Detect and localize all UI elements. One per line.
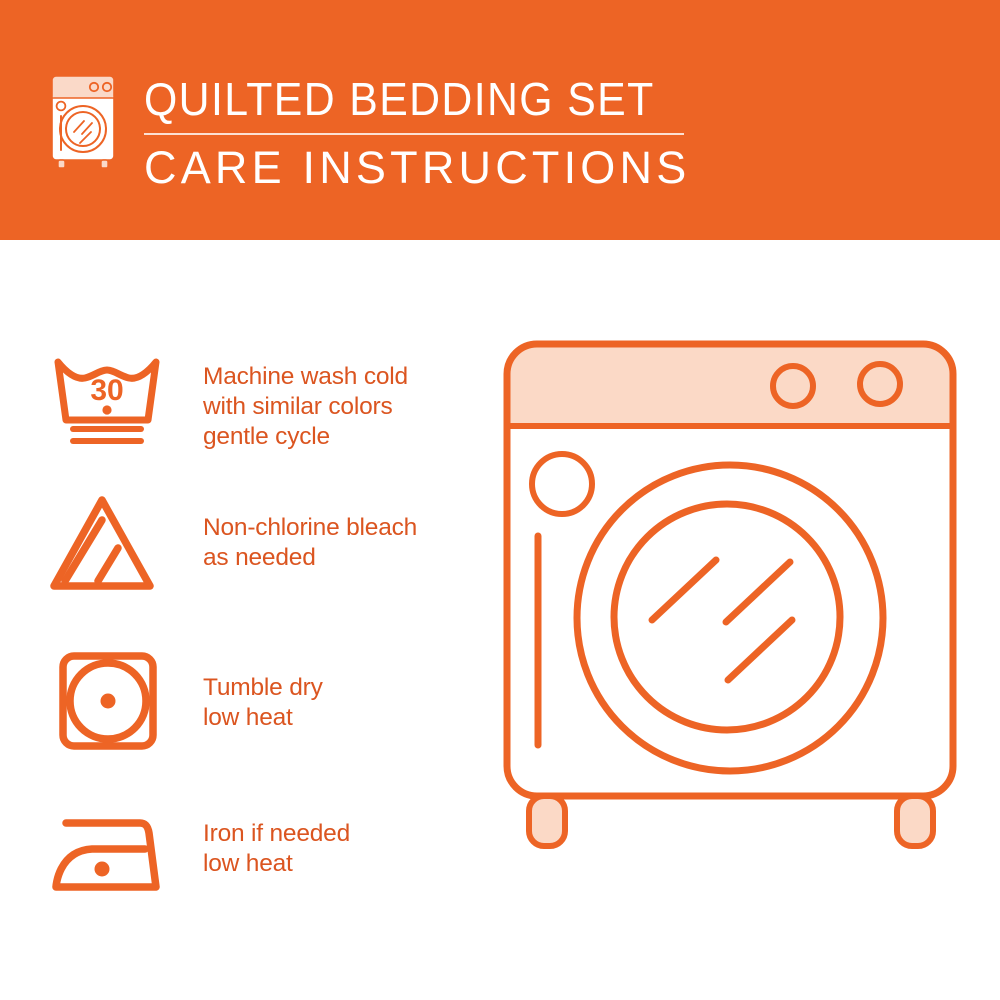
care-line: low heat <box>203 703 475 733</box>
care-row-machine-wash: 30 Machine wash cold with similar colors… <box>0 348 480 468</box>
page-subtitle: CARE INSTRUCTIONS <box>144 143 704 193</box>
care-text-tumble-dry: Tumble dry low heat <box>203 673 475 733</box>
care-line: as needed <box>203 543 475 573</box>
header-banner: QUILTED BEDDING SET CARE INSTRUCTIONS <box>0 0 1000 240</box>
care-row-tumble-dry: Tumble dry low heat <box>0 645 480 765</box>
iron-low-heat-icon <box>52 809 162 914</box>
care-line: Iron if needed <box>203 819 475 849</box>
machine-foot <box>529 796 565 846</box>
care-instructions-infographic: QUILTED BEDDING SET CARE INSTRUCTIONS 30… <box>0 0 1000 1000</box>
care-text-machine-wash: Machine wash cold with similar colors ge… <box>203 362 475 452</box>
care-line: Tumble dry <box>203 673 475 703</box>
care-row-iron: Iron if needed low heat <box>0 795 480 915</box>
washing-machine-illustration <box>480 320 980 940</box>
care-line: low heat <box>203 849 475 879</box>
care-line: with similar colors <box>203 392 475 422</box>
machine-wash-30-gentle-icon: 30 <box>52 348 162 453</box>
care-text-bleach: Non-chlorine bleach as needed <box>203 513 475 573</box>
washing-machine-icon <box>46 72 126 172</box>
title-divider <box>144 133 684 135</box>
machine-foot <box>897 796 933 846</box>
care-line: gentle cycle <box>203 422 475 452</box>
care-line: Non-chlorine bleach <box>203 513 475 543</box>
tumble-dry-low-heat-icon <box>58 651 168 756</box>
page-title: QUILTED BEDDING SET <box>144 74 665 124</box>
care-row-bleach: Non-chlorine bleach as needed <box>0 488 480 608</box>
wash-temperature-label: 30 <box>90 374 123 407</box>
care-text-iron: Iron if needed low heat <box>203 819 475 879</box>
non-chlorine-bleach-icon <box>50 494 160 599</box>
header-title-group: QUILTED BEDDING SET CARE INSTRUCTIONS <box>144 74 704 193</box>
care-line: Machine wash cold <box>203 362 475 392</box>
